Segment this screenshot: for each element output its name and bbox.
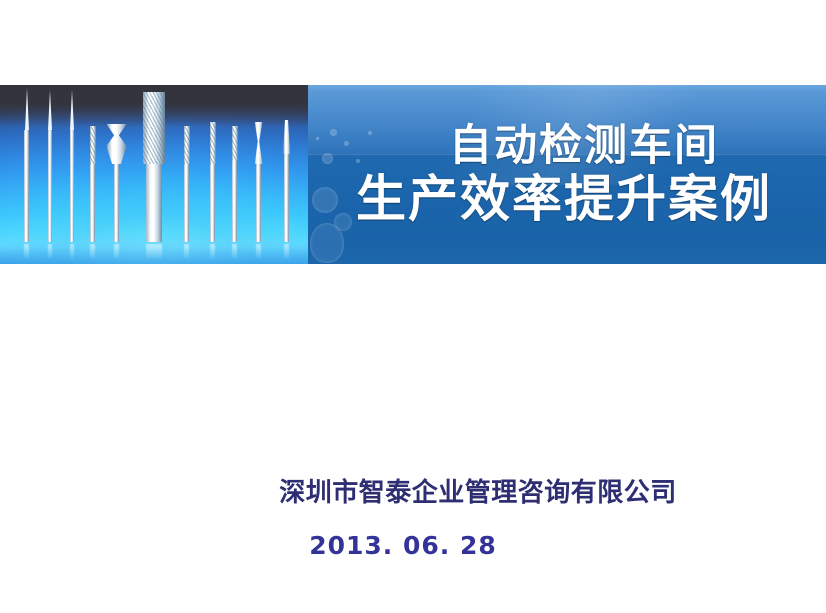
ball-nose-mill-reflection xyxy=(284,244,289,260)
bubble-icon xyxy=(316,137,319,140)
fluted-mill-1 xyxy=(184,164,189,242)
large-end-mill xyxy=(146,164,162,242)
bubble-icon xyxy=(368,131,372,135)
spiral-burr xyxy=(114,164,119,242)
bubble-icon xyxy=(310,223,344,263)
presentation-date: 2013. 06. 28 xyxy=(130,531,676,560)
bubble-icon xyxy=(322,153,333,164)
micro-drill-1 xyxy=(24,130,29,242)
fluted-mill-2 xyxy=(210,164,215,242)
fluted-mill-3-reflection xyxy=(232,244,237,260)
twist-mill-reflection xyxy=(256,244,261,260)
blue-water-panel xyxy=(308,85,826,264)
fluted-mill-3 xyxy=(232,160,237,242)
twist-mill xyxy=(256,164,261,242)
footer-block: 深圳市智泰企业管理咨询有限公司 2013. 06. 28 xyxy=(0,478,826,560)
micro-drill-3-reflection xyxy=(70,244,74,260)
bubble-icon xyxy=(344,141,349,146)
bubble-icon xyxy=(356,159,360,163)
bubble-icon xyxy=(330,129,337,136)
micro-drill-3-tip xyxy=(70,90,74,130)
corn-cob-mill xyxy=(90,164,95,242)
fluted-mill-2-tip xyxy=(210,122,216,164)
micro-drill-2-reflection xyxy=(48,244,52,260)
company-name: 深圳市智泰企业管理咨询有限公司 xyxy=(130,478,826,509)
water-bubbles-graphic xyxy=(308,125,428,264)
micro-drill-3 xyxy=(70,130,74,242)
micro-drill-1-reflection xyxy=(24,244,29,260)
micro-drill-2-tip xyxy=(48,90,52,130)
fluted-mill-1-tip xyxy=(184,126,190,164)
bubble-icon xyxy=(312,187,338,213)
ball-nose-mill xyxy=(284,154,289,242)
fluted-mill-1-reflection xyxy=(184,244,189,260)
title-banner xyxy=(0,85,826,264)
micro-drill-1-tip xyxy=(25,88,29,130)
carbide-drill-bits-photo xyxy=(0,85,308,264)
title-slide: 自动检测车间 生产效率提升案例 深圳市智泰企业管理咨询有限公司 2013. 06… xyxy=(0,0,826,613)
spiral-burr-reflection xyxy=(114,244,119,260)
corn-cob-mill-tip xyxy=(90,126,96,164)
corn-cob-mill-reflection xyxy=(90,244,95,260)
large-end-mill-tip xyxy=(143,92,165,164)
fluted-mill-2-reflection xyxy=(210,244,215,260)
large-end-mill-reflection xyxy=(146,244,162,260)
fluted-mill-3-tip xyxy=(232,126,238,160)
micro-drill-2 xyxy=(48,130,52,242)
